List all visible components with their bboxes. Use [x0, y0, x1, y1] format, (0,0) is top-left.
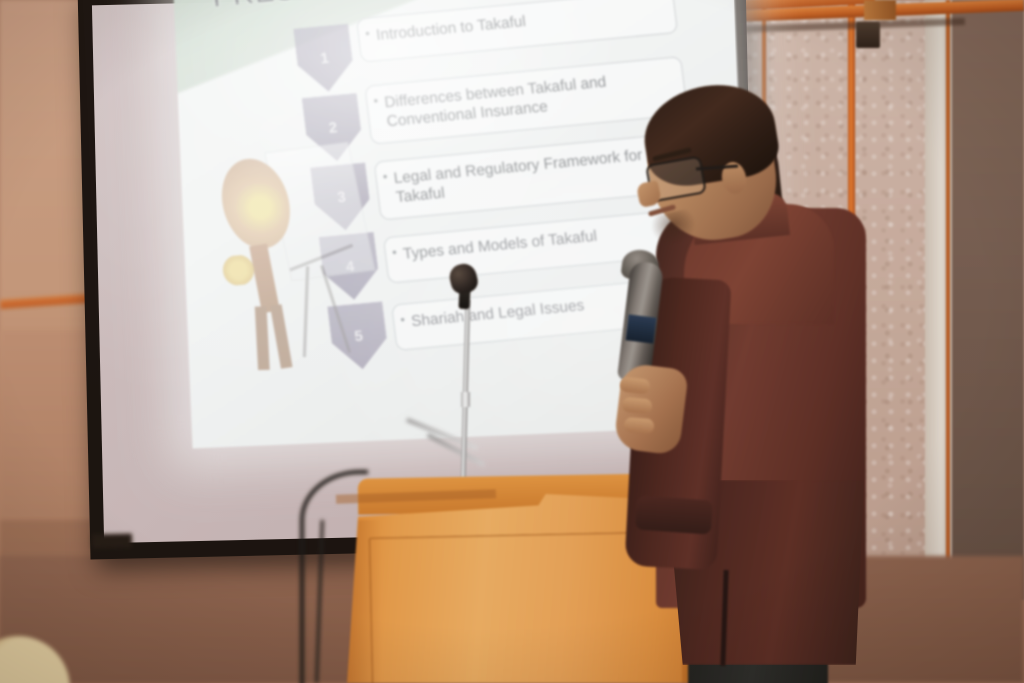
- wall-post-top: [864, 0, 896, 20]
- right-wall-dark-panel: [952, 0, 1024, 600]
- slide-illustration: [204, 142, 380, 382]
- chevron-number: 1: [296, 47, 353, 69]
- microphone-band: [626, 314, 657, 343]
- photo-scene: PRESENTATION O 1 2 3 4 5: [0, 0, 1024, 683]
- presenter-hand-icon: [221, 254, 256, 286]
- chevron-number: 2: [305, 116, 362, 138]
- speaker-finger: [624, 417, 655, 434]
- speaker: [596, 100, 896, 683]
- screen-foot: [92, 534, 132, 549]
- chevron-step: 1: [293, 24, 356, 94]
- right-wall-light-strip: [925, 0, 955, 600]
- speaker-cuff: [635, 495, 713, 534]
- presenter-leg-icon: [270, 304, 293, 368]
- mic-stand-collar: [461, 392, 470, 407]
- tripod-leg-icon: [320, 265, 351, 353]
- speaker-finger: [621, 397, 652, 415]
- wall-bracket: [856, 22, 880, 48]
- presenter-leg-icon: [255, 306, 270, 370]
- tripod-leg-icon: [303, 266, 309, 357]
- wall-trim-vertical-3: [946, 0, 950, 600]
- slide-bullet-1: Introduction to Takaful: [356, 0, 678, 63]
